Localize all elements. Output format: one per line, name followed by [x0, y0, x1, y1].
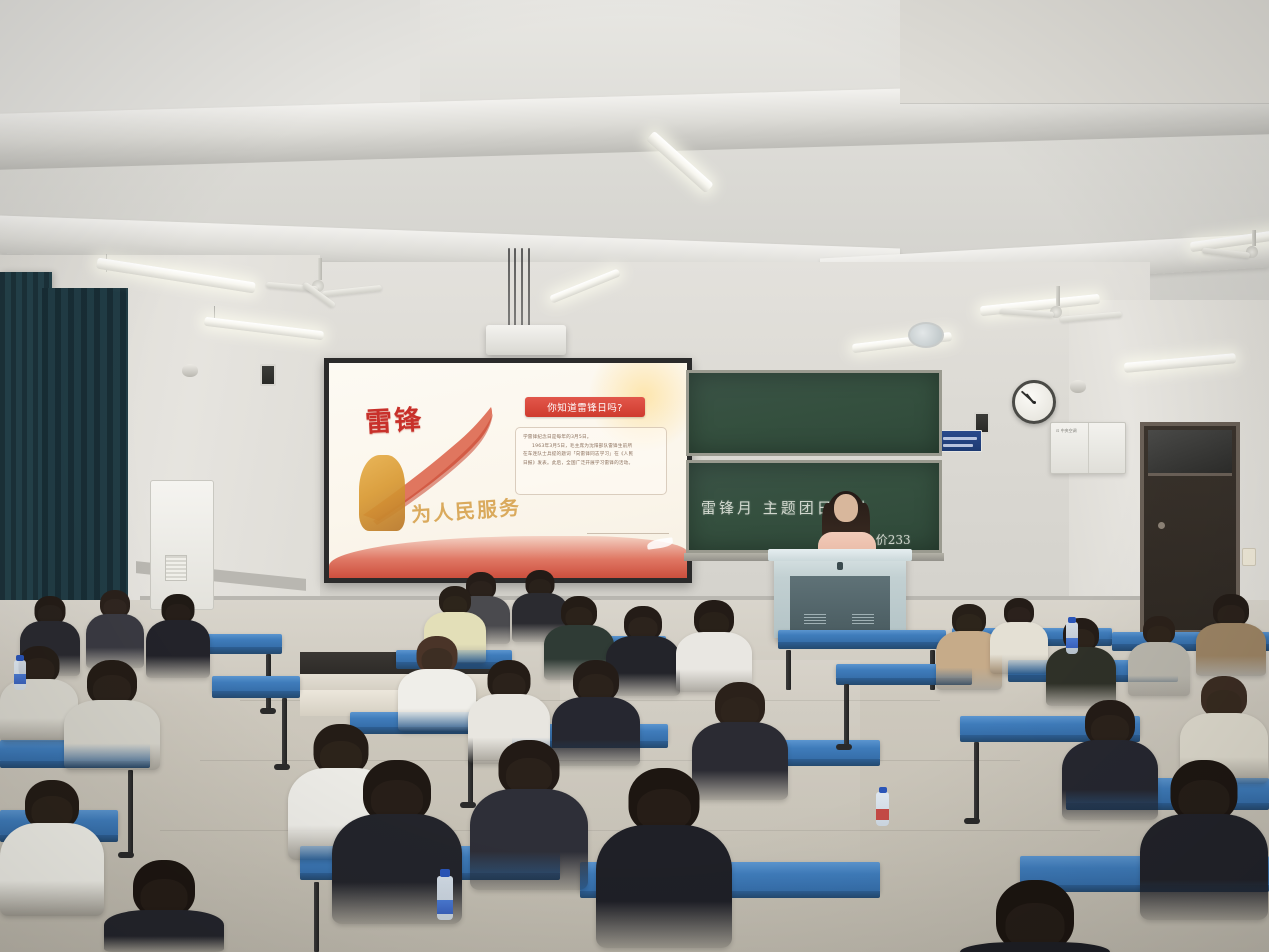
light-switch[interactable]	[1242, 548, 1256, 566]
student	[990, 598, 1048, 674]
wall-mounted-fan	[908, 322, 944, 348]
lectern	[774, 554, 906, 638]
water-bottle	[14, 660, 26, 690]
student	[1196, 594, 1266, 676]
slide-body-line: 1963年3月5日，毛主席为沈阳部队雷锋生前所	[523, 443, 659, 452]
slide-surface: 雷锋 为人民服务 你知道雷锋日吗? 学雷锋纪念日是每年的3月5日。 1963年3…	[329, 363, 687, 578]
student	[1046, 618, 1116, 706]
student	[64, 660, 160, 770]
desk-left-2	[212, 676, 300, 692]
student-torso	[990, 622, 1048, 674]
student-torso	[0, 823, 104, 916]
water-bottle	[876, 792, 889, 826]
water-bottle	[437, 876, 453, 920]
lectern-knob	[837, 562, 843, 570]
slide-title: 雷锋	[364, 398, 424, 440]
door-handle[interactable]	[1158, 522, 1165, 529]
water-bottle	[1066, 622, 1078, 654]
student	[596, 768, 732, 948]
slide-rule	[587, 533, 669, 534]
door-transom-window	[1148, 430, 1232, 476]
slide-body-line: 学雷锋纪念日是每年的3月5日。	[523, 434, 659, 443]
slide-body-line: 日报》发表。此后，全国广泛开展学习雷锋的活动。	[523, 460, 659, 469]
student-torso	[1140, 814, 1268, 920]
blackboard-upper-panel	[686, 370, 942, 456]
student	[470, 740, 588, 890]
projection-screen: 雷锋 为人民服务 你知道雷锋日吗? 学雷锋纪念日是每年的3月5日。 1963年3…	[324, 358, 692, 583]
slide-body-line: 在车连队士兵提的题词「向雷锋同志学习」在《人民	[523, 451, 659, 460]
student-torso	[596, 825, 732, 948]
clock-center-pin	[1033, 401, 1036, 404]
slide-lei-feng-statue	[359, 455, 405, 531]
student	[0, 780, 104, 916]
student	[1140, 760, 1268, 920]
ceiling-panel-left	[0, 0, 420, 118]
blackboard: 雷锋月 主题团日活动 价232 价233	[686, 370, 942, 553]
student	[104, 860, 224, 952]
curtain-left-inner	[42, 288, 128, 608]
slide-body-text: 学雷锋纪念日是每年的3月5日。 1963年3月5日，毛主席为沈阳部队雷锋生前所 …	[515, 427, 667, 495]
ac-vent-grill	[165, 555, 187, 581]
student-torso	[960, 942, 1110, 952]
wall-notice-sign	[938, 430, 982, 452]
student	[676, 600, 752, 692]
presenter-head	[834, 494, 858, 522]
student	[960, 880, 1110, 952]
wall-speaker	[260, 364, 276, 386]
student-head	[637, 789, 691, 830]
desk-teacher-row	[778, 630, 946, 643]
desk-left-1	[206, 634, 282, 648]
blackboard-lower-panel: 雷锋月 主题团日活动 价232 价233	[686, 460, 942, 553]
ceiling-panel-right	[900, 0, 1269, 104]
student-torso	[64, 700, 160, 770]
classroom-scene: ⊡ 中央空调 雷锋 为人民服务 你知道雷锋日吗?	[0, 0, 1269, 952]
floor-air-conditioner	[150, 480, 214, 610]
student-torso	[470, 789, 588, 890]
lectern-top	[768, 549, 912, 561]
student	[398, 636, 476, 732]
security-camera-icon	[1070, 380, 1086, 393]
lectern-front-panel	[790, 576, 890, 634]
student	[86, 590, 144, 668]
projector-cable-bundle	[506, 248, 542, 328]
slide-banner: 你知道雷锋日吗?	[525, 397, 645, 417]
wall-clock	[1012, 380, 1056, 424]
student-torso	[1196, 623, 1266, 676]
student-torso	[398, 669, 476, 732]
security-camera-icon	[182, 364, 198, 377]
ceiling-projector	[486, 325, 566, 355]
ac-brand-label: ⊡ 中央空调	[1056, 428, 1077, 434]
student-torso	[1046, 647, 1116, 706]
student-head	[506, 758, 552, 793]
wall-air-conditioner: ⊡ 中央空调	[1050, 422, 1126, 474]
student-torso	[104, 910, 224, 952]
